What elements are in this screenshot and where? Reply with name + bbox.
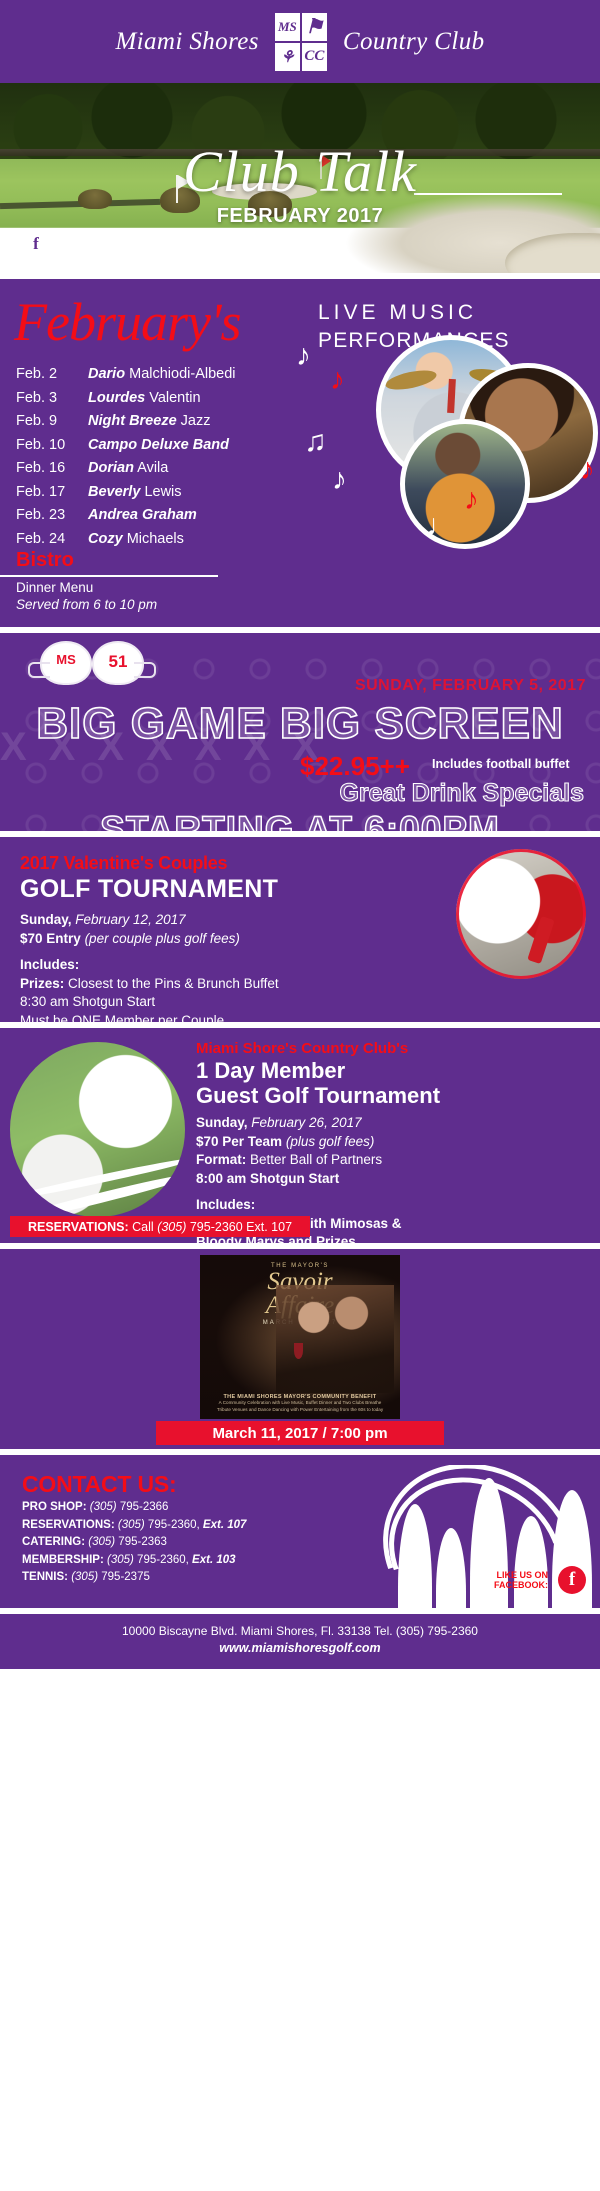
music-artist: Dario Malchiodi-Albedi (88, 363, 236, 387)
music-note-icon: ♪ (332, 465, 347, 495)
member-guest-includes-label: Includes: (196, 1196, 402, 1215)
member-guest-date-line: Sunday, February 26, 2017 (196, 1114, 402, 1133)
member-guest-title-line1: 1 Day Member (196, 1058, 440, 1083)
contact-heading: CONTACT US: (22, 1471, 177, 1498)
reservations-bar-call: Call (132, 1220, 154, 1234)
masthead-right-word: Country Club (343, 28, 485, 56)
facebook-icon[interactable]: f (24, 231, 48, 255)
cymbal-shape (384, 367, 438, 393)
list-item: RESERVATIONS: (305) 795-2360, Ext. 107 (22, 1517, 246, 1535)
valentine-includes-label: Includes: (20, 956, 279, 975)
music-date: Feb. 2 (16, 363, 88, 387)
contact-section: CONTACT US: PRO SHOP: (305) 795-2366 RES… (0, 1455, 600, 1608)
like-us-label: LIKE US ON FACEBOOK: (494, 1570, 548, 1590)
valentine-prizes-line: Prizes: Closest to the Pins & Brunch Buf… (20, 975, 279, 994)
list-item: Feb. 24 Cozy Michaels (16, 528, 286, 552)
live-music-heading-line1: LIVE MUSIC (318, 301, 477, 325)
footer-address: 10000 Biscayne Blvd. Miami Shores, Fl. 3… (0, 1623, 600, 1640)
reservations-bar-label: RESERVATIONS: (28, 1220, 129, 1234)
big-game-title: BIG GAME BIG SCREEN (0, 699, 600, 749)
valentine-golf-section: 2017 Valentine's Couples GOLF TOURNAMENT… (0, 837, 600, 1022)
tie-shape (447, 379, 456, 413)
helmet-left-logo: MS (56, 652, 76, 667)
music-artist: Beverly Lewis (88, 481, 182, 505)
music-note-icon: ♪ (464, 485, 479, 515)
february-script-heading: February's (14, 291, 241, 353)
music-artist: Lourdes Valentin (88, 387, 201, 411)
hero-banner: Club Talk FEBRUARY 2017 f (0, 83, 600, 273)
valentine-member-rule: Must be ONE Member per Couple (20, 1012, 279, 1023)
list-item: Feb. 3 Lourdes Valentin (16, 387, 286, 411)
list-item: MEMBERSHIP: (305) 795-2360, Ext. 103 (22, 1552, 246, 1570)
bistro-hours: Served from 6 to 10 pm (16, 597, 157, 612)
music-date: Feb. 16 (16, 457, 88, 481)
hero-issue-month: FEBRUARY 2017 (0, 205, 600, 228)
savoir-affaire-section: THE MAYOR'S Savoir Affaire MARCH 11, 201… (0, 1249, 600, 1449)
music-artist: Cozy Michaels (88, 528, 184, 552)
contact-phone-list: PRO SHOP: (305) 795-2366 RESERVATIONS: (… (22, 1499, 246, 1587)
crest-monogram-cc: CC (301, 42, 328, 72)
poster-fineprint: A Community Celebration with Live Music,… (200, 1400, 400, 1413)
musician-photo-cluster: ♫ ♪ ♪ ♪ ♩ ♪ ♪ (348, 335, 598, 565)
list-item: Feb. 9 Night Breeze Jazz (16, 410, 286, 434)
music-note-icon: ♪ (580, 455, 595, 485)
like-us-line2: FACEBOOK: (494, 1580, 548, 1590)
facebook-icon[interactable]: f (558, 1566, 586, 1594)
valentine-title: GOLF TOURNAMENT (20, 875, 278, 904)
valentine-kicker: 2017 Valentine's Couples (20, 853, 227, 874)
newsletter-page: Miami Shores MS ⚑ ⚘ CC Country Club Club… (0, 0, 600, 1669)
member-guest-section: Miami Shore's Country Club's 1 Day Membe… (0, 1028, 600, 1243)
valentine-shotgun: 8:30 am Shotgun Start (20, 993, 279, 1012)
masthead-left-word: Miami Shores (115, 28, 258, 56)
grass-logo-graphic (300, 1465, 600, 1608)
music-schedule-list: Feb. 2 Dario Malchiodi-Albedi Feb. 3 Lou… (16, 363, 286, 551)
bistro-heading: Bistro (16, 549, 74, 572)
list-item: PRO SHOP: (305) 795-2366 (22, 1499, 246, 1517)
music-artist: Night Breeze Jazz (88, 410, 211, 434)
member-guest-title: 1 Day Member Guest Golf Tournament (196, 1058, 440, 1108)
music-date: Feb. 17 (16, 481, 88, 505)
reservations-bar-area: (305) (157, 1220, 186, 1234)
list-item: CATERING: (305) 795-2363 (22, 1534, 246, 1552)
crest-tennis-icon: ⚘ (274, 42, 301, 72)
big-game-section: XXXXXXX MS 51 SUNDAY, FEBRUARY 5, 2017 B… (0, 633, 600, 831)
savoir-affaire-poster[interactable]: THE MAYOR'S Savoir Affaire MARCH 11, 201… (200, 1255, 400, 1419)
big-game-price: $22.95++ (300, 751, 410, 782)
big-game-start-time: STARTING AT 6:00PM (0, 809, 600, 831)
list-item: Feb. 17 Beverly Lewis (16, 481, 286, 505)
music-artist: Dorian Avila (88, 457, 168, 481)
football-helmets: MS 51 (40, 641, 144, 685)
music-note-icon: ♪ (330, 365, 345, 395)
list-item: Feb. 16 Dorian Avila (16, 457, 286, 481)
music-date: Feb. 23 (16, 504, 88, 528)
list-item: TENNIS: (305) 795-2375 (22, 1569, 246, 1587)
red-tee-shape (527, 916, 555, 964)
live-music-section: February's LIVE MUSIC PERFORMANCES Feb. … (0, 279, 600, 627)
music-artist: Campo Deluxe Band (88, 434, 229, 458)
footer-website[interactable]: www.miamishoresgolf.com (0, 1640, 600, 1657)
music-note-icon: ♪ (296, 341, 311, 371)
music-note-icon: ♩ (426, 511, 456, 541)
helmet-right-logo: 51 (109, 652, 128, 672)
member-guest-price-line: $70 Per Team (plus golf fees) (196, 1133, 402, 1152)
music-date: Feb. 3 (16, 387, 88, 411)
member-guest-format-line: Format: Better Ball of Partners (196, 1151, 402, 1170)
list-item: Feb. 2 Dario Malchiodi-Albedi (16, 363, 286, 387)
music-date: Feb. 24 (16, 528, 88, 552)
helmet-right-icon: 51 (92, 641, 144, 685)
valentine-date-line: Sunday, February 12, 2017 (20, 911, 279, 930)
poster-footer: THE MIAMI SHORES MAYOR'S COMMUNITY BENEF… (200, 1394, 400, 1413)
hero-bunker-right (505, 233, 600, 273)
helmet-left-icon: MS (40, 641, 92, 685)
club-crest-logo: MS ⚑ ⚘ CC (273, 11, 329, 73)
reservations-bar[interactable]: RESERVATIONS: Call (305) 795-2360 Ext. 1… (10, 1216, 310, 1237)
wine-glass-shape (294, 1343, 303, 1359)
list-item: Feb. 10 Campo Deluxe Band (16, 434, 286, 458)
golf-ball-rose-photo (456, 849, 586, 979)
crest-monogram-ms: MS (274, 12, 301, 42)
couple-photo (276, 1285, 394, 1393)
music-artist: Andrea Graham (88, 504, 197, 528)
masthead: Miami Shores MS ⚑ ⚘ CC Country Club (0, 0, 600, 83)
big-game-date: SUNDAY, FEBRUARY 5, 2017 (355, 677, 586, 695)
reservations-bar-number: 795-2360 Ext. 107 (190, 1220, 292, 1234)
valentine-details: Sunday, February 12, 2017 $70 Entry (per… (20, 911, 279, 1022)
member-guest-kicker: Miami Shore's Country Club's (196, 1040, 408, 1057)
crest-golfer-icon: ⚑ (301, 12, 328, 42)
bistro-rule (0, 575, 218, 577)
bistro-menu-label: Dinner Menu (16, 579, 157, 596)
big-game-buffet-note: Includes football buffet (432, 757, 570, 771)
member-guest-shotgun: 8:00 am Shotgun Start (196, 1170, 402, 1189)
music-date: Feb. 10 (16, 434, 88, 458)
list-item: Feb. 23 Andrea Graham (16, 504, 286, 528)
big-game-drink-specials: Great Drink Specials (339, 779, 584, 808)
savoir-affaire-datetime-bar: March 11, 2017 / 7:00 pm (156, 1421, 444, 1445)
member-guest-title-line2: Guest Golf Tournament (196, 1083, 440, 1108)
music-date: Feb. 9 (16, 410, 88, 434)
music-note-icon: ♫ (304, 427, 327, 457)
poster-top-line: THE MAYOR'S (200, 1255, 400, 1269)
valentine-entry-line: $70 Entry (per couple plus golf fees) (20, 930, 279, 949)
golf-ball-photo (10, 1042, 185, 1217)
hero-title: Club Talk (0, 138, 600, 205)
page-footer: 10000 Biscayne Blvd. Miami Shores, Fl. 3… (0, 1614, 600, 1669)
like-us-line1: LIKE US ON (494, 1570, 548, 1580)
bistro-details: Dinner Menu Served from 6 to 10 pm (16, 579, 157, 613)
